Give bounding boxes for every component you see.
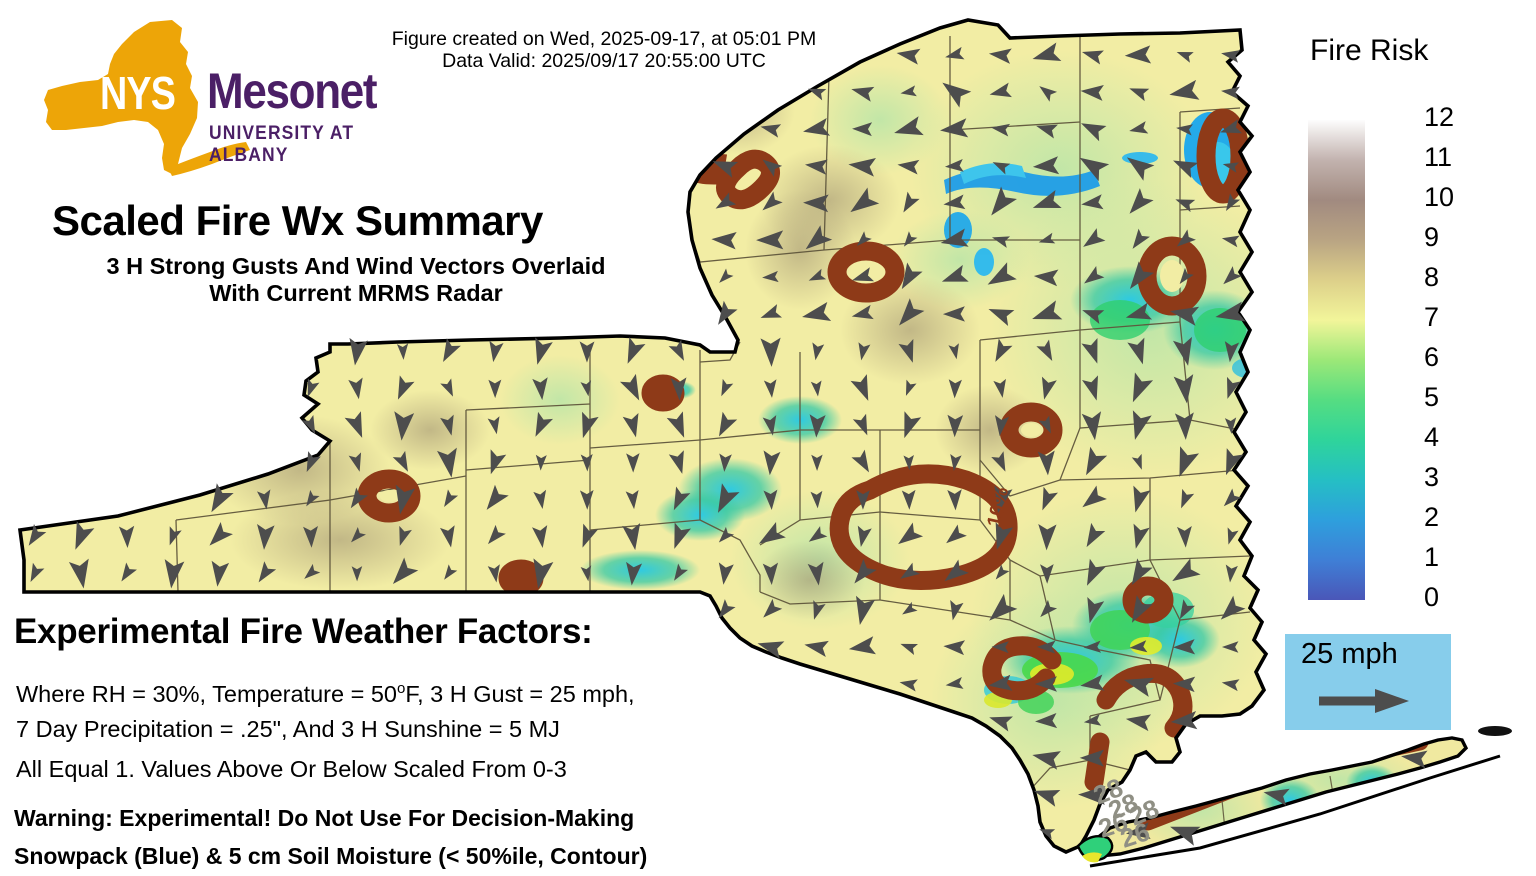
colorbar-tick-7: 7	[1424, 302, 1439, 333]
colorbar-tick-5: 5	[1424, 382, 1439, 413]
factors-line-1b: F, 3 H Gust = 25 mph,	[405, 681, 634, 707]
colorbar-tick-1: 1	[1424, 542, 1439, 573]
page-subtitle: 3 H Strong Gusts And Wind Vectors Overla…	[36, 253, 676, 307]
factors-line-3: All Equal 1. Values Above Or Below Scale…	[16, 756, 567, 782]
factors-line-1a: Where RH = 30%, Temperature = 50	[16, 681, 397, 707]
factors-heading: Experimental Fire Weather Factors:	[14, 612, 593, 652]
warning-line-1: Warning: Experimental! Do Not Use For De…	[14, 805, 634, 831]
colorbar-tick-11: 11	[1424, 142, 1452, 173]
logo-mesonet-text: Mesonet	[207, 62, 376, 120]
fire-risk-colorbar	[1308, 120, 1365, 600]
warning-line-2: Snowpack (Blue) & 5 cm Soil Moisture (< …	[14, 843, 647, 869]
factors-line-2: 7 Day Precipitation = .25", And 3 H Suns…	[16, 716, 560, 742]
wind-legend-label: 25 mph	[1301, 638, 1398, 671]
colorbar-tick-9: 9	[1424, 222, 1439, 253]
subtitle-line-1: 3 H Strong Gusts And Wind Vectors Overla…	[36, 253, 676, 280]
colorbar-tick-8: 8	[1424, 262, 1439, 293]
subtitle-line-2: With Current MRMS Radar	[36, 280, 676, 307]
nys-mesonet-logo: NYS Mesonet UNIVERSITY AT ALBANY	[22, 18, 382, 178]
data-valid-text: Data Valid: 2025/09/17 20:55:00 UTC	[364, 50, 844, 72]
colorbar-tick-12: 12	[1424, 102, 1454, 133]
factors-line-1: Where RH = 30%, Temperature = 50oF, 3 H …	[16, 676, 635, 707]
colorbar-tick-3: 3	[1424, 462, 1439, 493]
colorbar-tick-6: 6	[1424, 342, 1439, 373]
wind-arrow-icon	[1317, 684, 1417, 718]
logo-nys-text: NYS	[100, 66, 175, 120]
colorbar-tick-10: 10	[1424, 182, 1454, 213]
timestamp-block: Figure created on Wed, 2025-09-17, at 05…	[364, 28, 844, 72]
logo-tagline: UNIVERSITY AT ALBANY	[209, 123, 368, 167]
colorbar-tick-0: 0	[1424, 582, 1439, 613]
wind-scale-legend: 25 mph	[1285, 634, 1451, 730]
colorbar-tick-4: 4	[1424, 422, 1439, 453]
page-title: Scaled Fire Wx Summary	[52, 197, 543, 245]
colorbar-tick-2: 2	[1424, 502, 1439, 533]
block-island	[1478, 726, 1512, 736]
figure-created-text: Figure created on Wed, 2025-09-17, at 05…	[364, 28, 844, 50]
colorbar-title: Fire Risk	[1310, 34, 1428, 68]
